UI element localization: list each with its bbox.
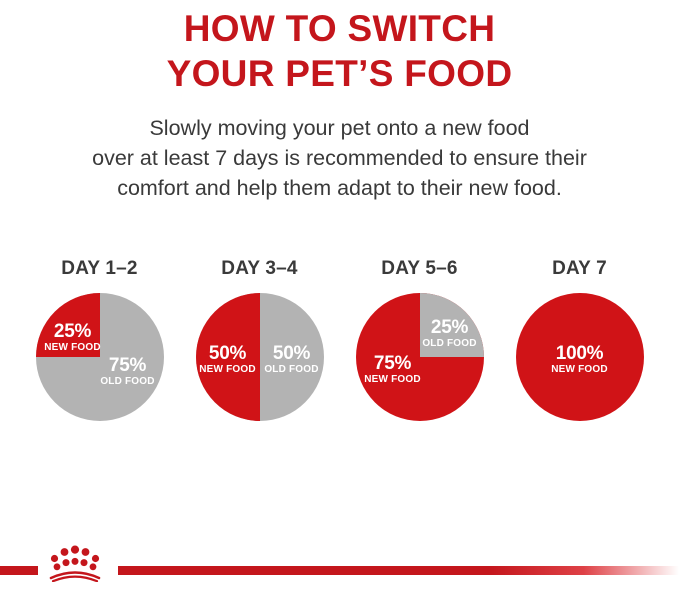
pie-cat-old-2: OLD FOOD — [261, 365, 323, 375]
pie-label-new-food-3: 75% NEW FOOD — [359, 354, 427, 385]
title-line-2: YOUR PET’S FOOD — [0, 51, 679, 96]
pie-pct-new-2: 50% — [197, 344, 259, 363]
page-title: HOW TO SWITCH YOUR PET’S FOOD — [0, 0, 679, 96]
pie-chart-day-5-6: 25% OLD FOOD 75% NEW FOOD — [355, 292, 485, 422]
chart-cell-day-7: DAY 7 100% NEW FOOD — [500, 258, 660, 422]
pie-pct-new-1: 25% — [41, 322, 105, 341]
subtitle-line-3: comfort and help them adapt to their new… — [0, 173, 679, 203]
chart-cell-day-3-4: DAY 3–4 50% NEW FOOD 50% OLD FOOD — [180, 258, 340, 422]
pie-chart-day-7: 100% NEW FOOD — [515, 292, 645, 422]
pie-label-new-food-2: 50% NEW FOOD — [197, 344, 259, 375]
day-label-2: DAY 3–4 — [221, 258, 297, 280]
day-label-3: DAY 5–6 — [381, 258, 457, 280]
pie-pct-new-4: 100% — [541, 344, 619, 363]
footer-rule-left — [0, 566, 38, 575]
subtitle: Slowly moving your pet onto a new food o… — [0, 113, 679, 203]
pie-cat-old-1: OLD FOOD — [93, 377, 163, 387]
pie-label-old-food-2: 50% OLD FOOD — [261, 344, 323, 375]
chart-cell-day-5-6: DAY 5–6 25% OLD FOOD 75% NEW FOOD — [340, 258, 500, 422]
pie-pct-old-1: 75% — [93, 356, 163, 375]
pie-label-new-food-1: 25% NEW FOOD — [41, 322, 105, 353]
pie-pct-old-2: 50% — [261, 344, 323, 363]
pie-label-old-food-1: 75% OLD FOOD — [93, 356, 163, 387]
footer-rule-right — [118, 566, 679, 575]
pie-cat-new-3: NEW FOOD — [359, 375, 427, 385]
footer-brand-bar — [0, 540, 679, 594]
pie-label-old-food-3: 25% OLD FOOD — [419, 318, 481, 349]
pie-cat-new-1: NEW FOOD — [41, 343, 105, 353]
pie-cat-old-3: OLD FOOD — [419, 339, 481, 349]
subtitle-line-1: Slowly moving your pet onto a new food — [0, 113, 679, 143]
pie-cat-new-2: NEW FOOD — [197, 365, 259, 375]
pie-pct-old-3: 25% — [419, 318, 481, 337]
pie-label-new-food-4: 100% NEW FOOD — [541, 344, 619, 375]
day-label-1: DAY 1–2 — [61, 258, 137, 280]
pie-chart-row: DAY 1–2 25% NEW FOOD 75% OLD FOOD DAY 3–… — [0, 258, 679, 422]
pie-chart-day-1-2: 25% NEW FOOD 75% OLD FOOD — [35, 292, 165, 422]
chart-cell-day-1-2: DAY 1–2 25% NEW FOOD 75% OLD FOOD — [20, 258, 180, 422]
pie-chart-day-3-4: 50% NEW FOOD 50% OLD FOOD — [195, 292, 325, 422]
day-label-4: DAY 7 — [552, 258, 607, 280]
royal-canin-crown-icon — [40, 542, 110, 582]
title-line-1: HOW TO SWITCH — [0, 6, 679, 51]
subtitle-line-2: over at least 7 days is recommended to e… — [0, 143, 679, 173]
pie-pct-new-3: 75% — [359, 354, 427, 373]
pie-cat-new-4: NEW FOOD — [541, 365, 619, 375]
